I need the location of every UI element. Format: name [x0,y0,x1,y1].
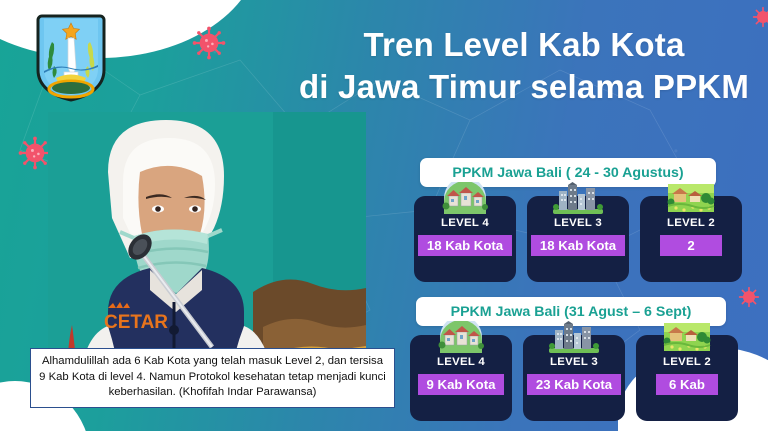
level-label: LEVEL 4 [437,356,485,368]
level-card[interactable]: LEVEL 3 23 Kab Kota [523,335,625,421]
countryside-icon [662,321,712,353]
title-line-2: di Jawa Timur selama PPKM [290,66,758,108]
virus-icon [738,286,760,308]
level-value: 6 Kab [656,374,718,395]
section-banner-2-label: PPKM Jawa Bali (31 Agust – 6 Sept) [451,304,692,320]
title-line-1: Tren Level Kab Kota [363,26,684,63]
level-label: LEVEL 2 [663,356,711,368]
countryside-icon [666,182,716,214]
east-java-emblem-logo [34,10,108,104]
level-card[interactable]: LEVEL 2 6 Kab [636,335,738,421]
level-label: LEVEL 3 [554,217,602,229]
level-value: 18 Kab Kota [418,235,512,256]
page-title: Tren Level Kab Kota di Jawa Timur selama… [290,24,758,108]
level-card[interactable]: LEVEL 2 2 [640,196,742,282]
level-label: LEVEL 4 [441,217,489,229]
level-value: 23 Kab Kota [527,374,621,395]
village-houses-icon [436,321,486,353]
virus-icon [192,26,226,60]
virus-icon [18,136,52,170]
quote-caption: Alhamdulillah ada 6 Kab Kota yang telah … [30,348,395,408]
level-card[interactable]: LEVEL 4 9 Kab Kota [410,335,512,421]
level-cards-row-1: LEVEL 4 18 Kab Kota [414,196,742,282]
level-value: 2 [660,235,722,256]
village-houses-icon [440,182,490,214]
section-banner-1-label: PPKM Jawa Bali ( 24 - 30 Agustus) [452,165,683,181]
level-label: LEVEL 2 [667,217,715,229]
city-skyline-icon [549,321,599,353]
svg-text:CETAR: CETAR [104,312,168,333]
level-cards-row-2: LEVEL 4 9 Kab Kota [410,335,738,421]
level-value: 18 Kab Kota [531,235,625,256]
level-card[interactable]: LEVEL 3 18 Kab Kota [527,196,629,282]
poster-canvas: Tren Level Kab Kota di Jawa Timur selama… [0,0,768,431]
level-label: LEVEL 3 [550,356,598,368]
level-card[interactable]: LEVEL 4 18 Kab Kota [414,196,516,282]
city-skyline-icon [553,182,603,214]
level-value: 9 Kab Kota [418,374,505,395]
